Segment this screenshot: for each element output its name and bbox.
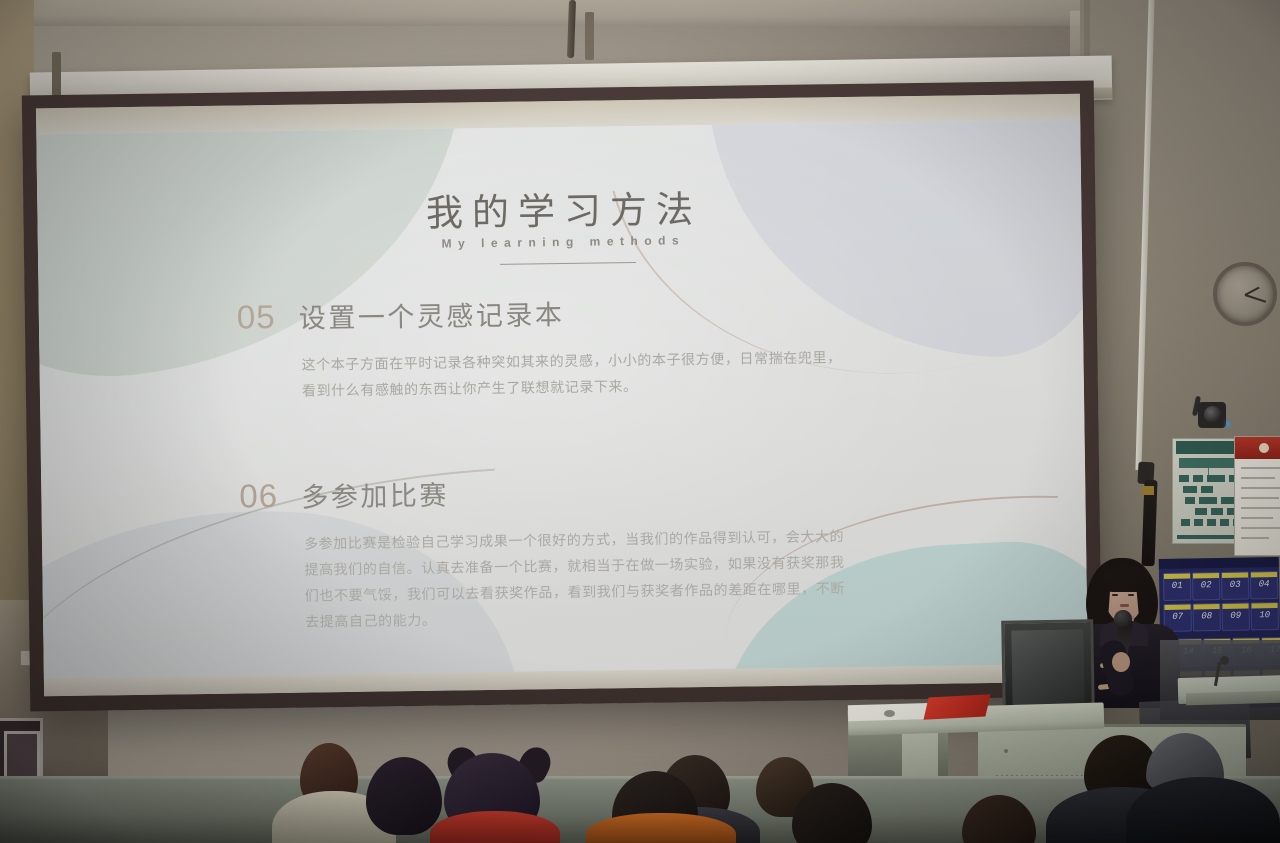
title-divider bbox=[500, 262, 636, 265]
classroom-scene: 01 02 03 04 07 08 09 10 14 15 16 17 20 2… bbox=[0, 0, 1280, 843]
slide-section-05: 05 设置一个灵感记录本 这个本子方面在平时记录各种突如其来的灵感，小小的本子很… bbox=[237, 289, 838, 404]
presenter-hand bbox=[1112, 652, 1130, 672]
ceiling-camera-icon bbox=[1194, 396, 1228, 428]
roller-bracket-left bbox=[52, 52, 61, 100]
projection-screen-surface: 我的学习方法 My learning methods 05 设置一个灵感记录本 … bbox=[36, 94, 1088, 697]
microphone-head bbox=[1114, 610, 1132, 628]
roller-bracket-right bbox=[585, 12, 594, 60]
podium-keyboard bbox=[1186, 691, 1280, 706]
slide-section-06: 06 多参加比赛 多参加比赛是检验自己学习成果一个很好的方式，当我们的作品得到认… bbox=[239, 468, 841, 635]
section-number: 05 bbox=[237, 298, 300, 337]
section-heading: 设置一个灵感记录本 bbox=[299, 293, 565, 336]
section-number: 06 bbox=[239, 477, 302, 516]
presentation-slide: 我的学习方法 My learning methods 05 设置一个灵感记录本 … bbox=[36, 120, 1088, 681]
section-body: 这个本子方面在平时记录各种突如其来的灵感，小小的本子很方便，日常揣在兜里，看到什… bbox=[301, 344, 848, 404]
projection-screen-frame: 我的学习方法 My learning methods 05 设置一个灵感记录本 … bbox=[22, 81, 1102, 712]
podium-knob bbox=[884, 710, 895, 717]
podium-mic-head bbox=[1220, 656, 1229, 665]
red-folder bbox=[923, 694, 990, 720]
wall-clock-icon bbox=[1213, 262, 1277, 326]
section-heading: 多参加比赛 bbox=[301, 474, 449, 515]
section-body: 多参加比赛是检验自己学习成果一个很好的方式，当我们的作品得到认可，会大大的提高我… bbox=[304, 523, 851, 635]
rod-clip bbox=[1142, 486, 1154, 495]
notice-poster bbox=[1234, 436, 1280, 556]
